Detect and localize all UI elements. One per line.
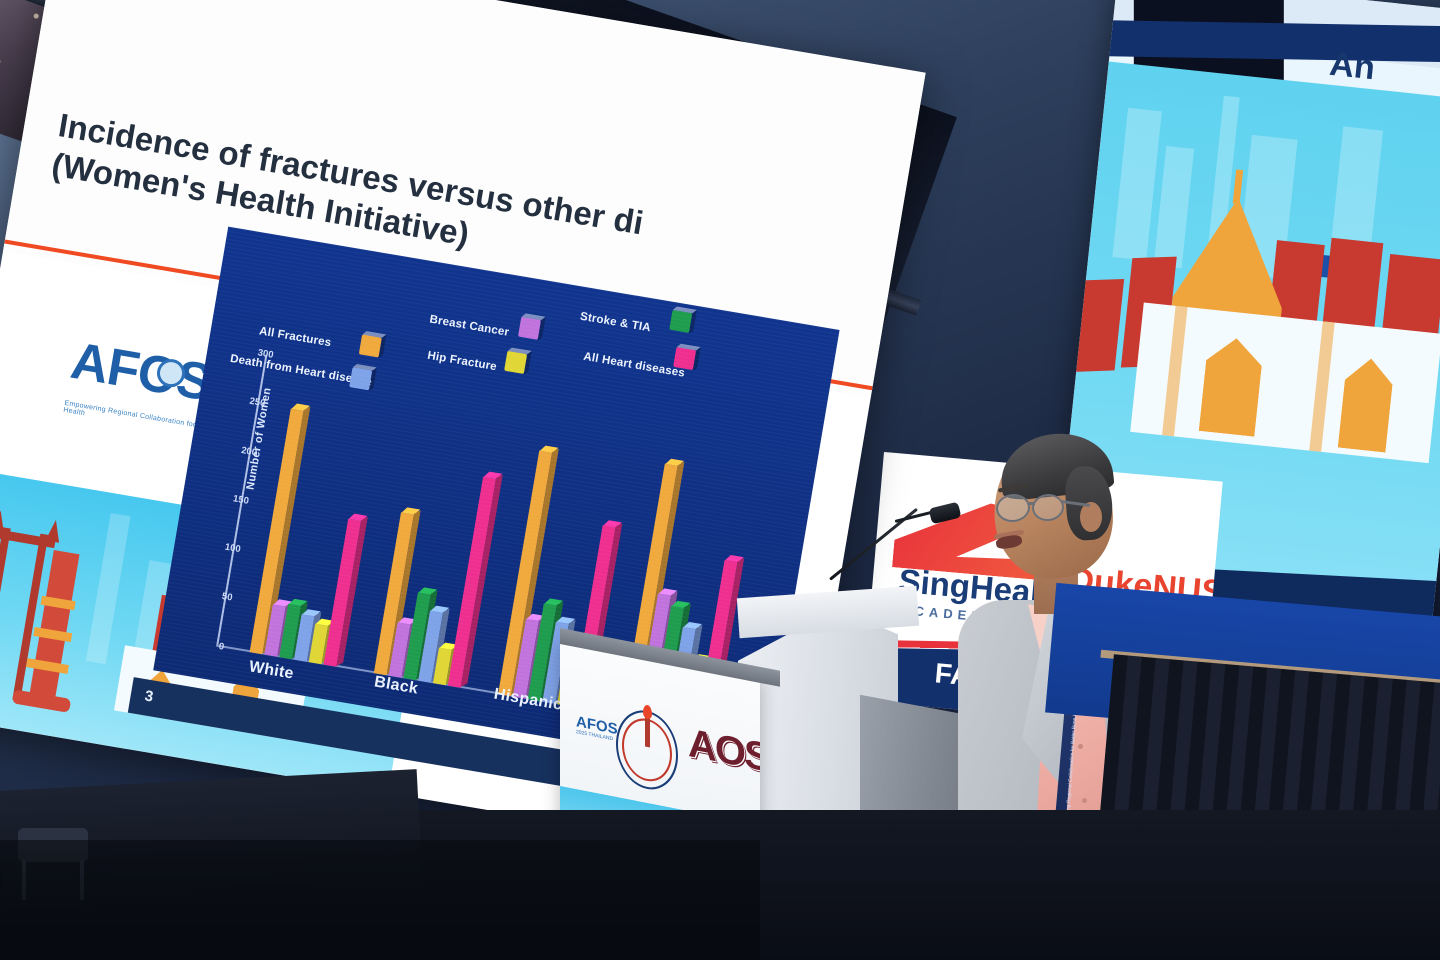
speaker-ear <box>1080 502 1102 532</box>
podium-aos-logo: AOS <box>688 721 760 782</box>
secondary-screen-title: An <box>1328 45 1377 89</box>
foreground-shadow <box>0 840 760 960</box>
bar-group-black <box>374 464 496 688</box>
legend-swatch-all-heart-diseases <box>673 347 696 370</box>
legend-swatch-breast-cancer <box>518 317 541 340</box>
legend-swatch-all-fractures <box>359 334 382 357</box>
temple-spire <box>1233 169 1244 204</box>
screen-navy-band <box>1072 20 1440 64</box>
skyline-building <box>86 513 131 664</box>
temple-roof <box>1066 279 1124 372</box>
legend-label-all-heart-diseases: All Heart diseases <box>582 350 686 381</box>
legend-swatch-stroke-tia <box>669 310 692 333</box>
legend-label-stroke-tia: Stroke & TIA <box>579 311 651 335</box>
bar-black-all-heart-diseases <box>448 476 496 687</box>
legend-swatch-hip-fracture <box>504 351 527 374</box>
legend-label-all-fractures: All Fractures <box>258 325 332 349</box>
skyline-building <box>1112 108 1161 261</box>
afos-seal-icon <box>616 705 678 795</box>
bar-group-white <box>250 409 378 667</box>
legend-label-all-heart-text: All Heart diseases <box>583 351 686 380</box>
conference-photo-scene: An SingHealth DukeNUS AC <box>0 0 1440 960</box>
shirt-button <box>1082 798 1087 803</box>
giant-swing-post <box>0 527 11 694</box>
glasses-bridge <box>1029 502 1035 505</box>
bar-white-all-heart-diseases <box>324 519 361 667</box>
giant-swing-finial <box>45 519 62 543</box>
legend-label-breast-cancer: Breast Cancer <box>429 314 510 339</box>
skyline-building <box>1154 146 1194 268</box>
x-category-white: White <box>248 658 295 683</box>
shirt-button <box>1078 744 1083 749</box>
legend-label-hip-fracture: Hip Fracture <box>427 350 498 374</box>
slide-number: 3 <box>143 687 154 705</box>
